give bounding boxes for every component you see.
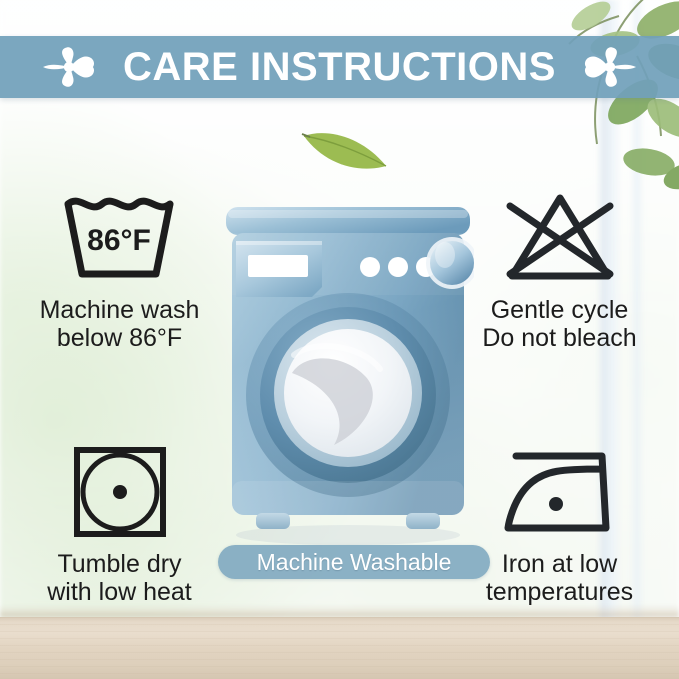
care-item-tumble-dry-caption: Tumble dry with low heat [12, 550, 227, 607]
care-item-machine-wash-caption: Machine wash below 86°F [12, 296, 227, 353]
fleur-de-lis-right-icon [578, 45, 640, 89]
floating-leaf-icon [300, 120, 392, 178]
foliage-branch-icon [499, 0, 679, 216]
wooden-table-surface [0, 617, 679, 679]
wash-tub-icon: 86°F [12, 186, 227, 290]
care-instructions-infographic: CARE INSTRUCTIONS 86°F Machine wash belo… [0, 0, 679, 679]
care-item-do-not-bleach: Gentle cycle Do not bleach [452, 186, 667, 353]
machine-foot-right [406, 513, 440, 529]
table-wood-grain [0, 617, 679, 679]
machine-foot-left [256, 513, 290, 529]
header-banner: CARE INSTRUCTIONS [0, 36, 679, 98]
care-item-tumble-dry: Tumble dry with low heat [12, 440, 227, 607]
table-edge-shadow [0, 605, 679, 617]
wash-temperature-value: 86°F [87, 224, 151, 257]
page-title: CARE INSTRUCTIONS [123, 47, 556, 87]
iron-low-heat-icon [452, 440, 667, 544]
indicator-light-2 [388, 257, 408, 277]
care-item-iron: Iron at low temperatures [452, 440, 667, 607]
washing-machine-illustration [222, 205, 474, 550]
machine-washable-badge: Machine Washable [218, 545, 490, 579]
care-item-machine-wash: 86°F Machine wash below 86°F [12, 186, 227, 353]
triangle-crossed-bleach-icon [452, 186, 667, 290]
care-item-do-not-bleach-caption: Gentle cycle Do not bleach [452, 296, 667, 353]
machine-washable-badge-label: Machine Washable [257, 551, 452, 574]
tumble-dry-low-icon [12, 440, 227, 544]
fleur-de-lis-left-icon [39, 45, 101, 89]
indicator-light-1 [360, 257, 380, 277]
